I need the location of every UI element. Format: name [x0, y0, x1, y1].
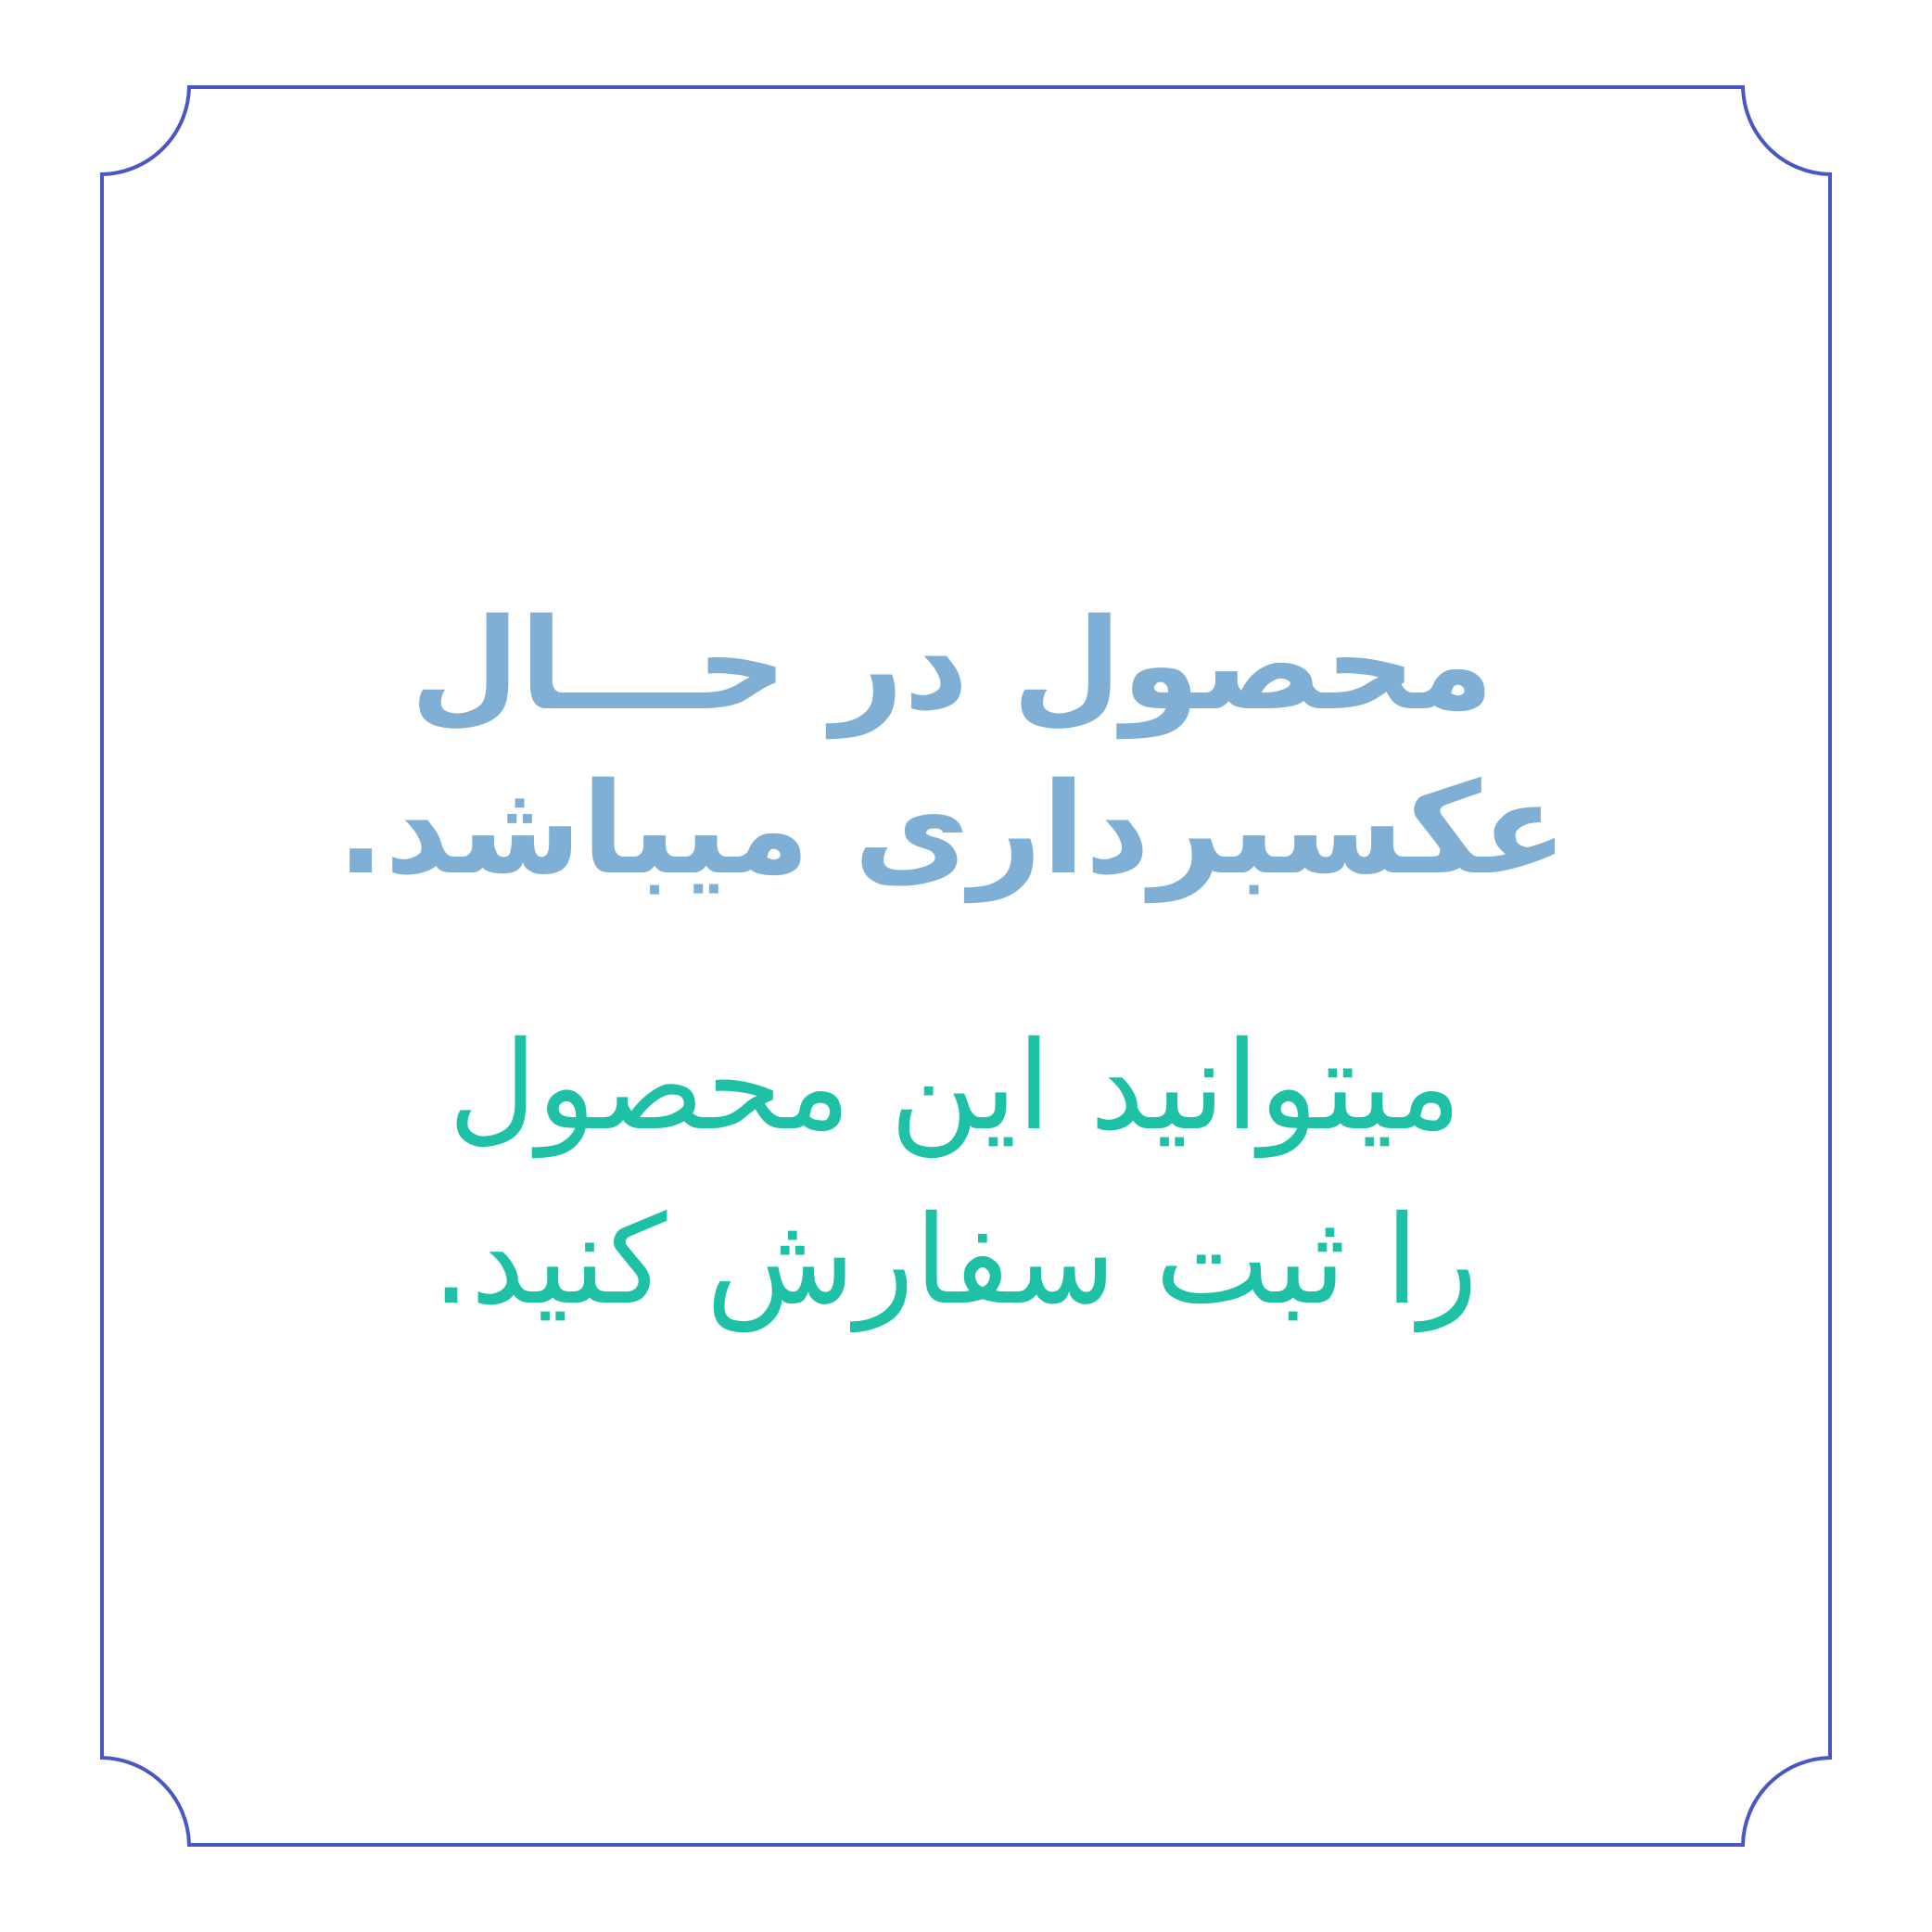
- primary-message-line-1: محصول در حـــال: [86, 584, 1818, 748]
- primary-message: محصول در حـــال عکسبرداری میباشد.: [86, 584, 1846, 912]
- secondary-message-line-2: را ثبت سفارش کنید.: [89, 1175, 1821, 1348]
- secondary-message: میتوانید این محصول را ثبت سفارش کنید.: [89, 1000, 1843, 1348]
- placeholder-card: محصول در حـــال عکسبرداری میباشد. میتوان…: [0, 0, 1932, 1932]
- secondary-message-line-1: میتوانید این محصول: [89, 1000, 1821, 1174]
- message-stack: محصول در حـــال عکسبرداری میباشد. میتوان…: [100, 85, 1832, 1847]
- primary-message-line-2: عکسبرداری میباشد.: [86, 748, 1818, 912]
